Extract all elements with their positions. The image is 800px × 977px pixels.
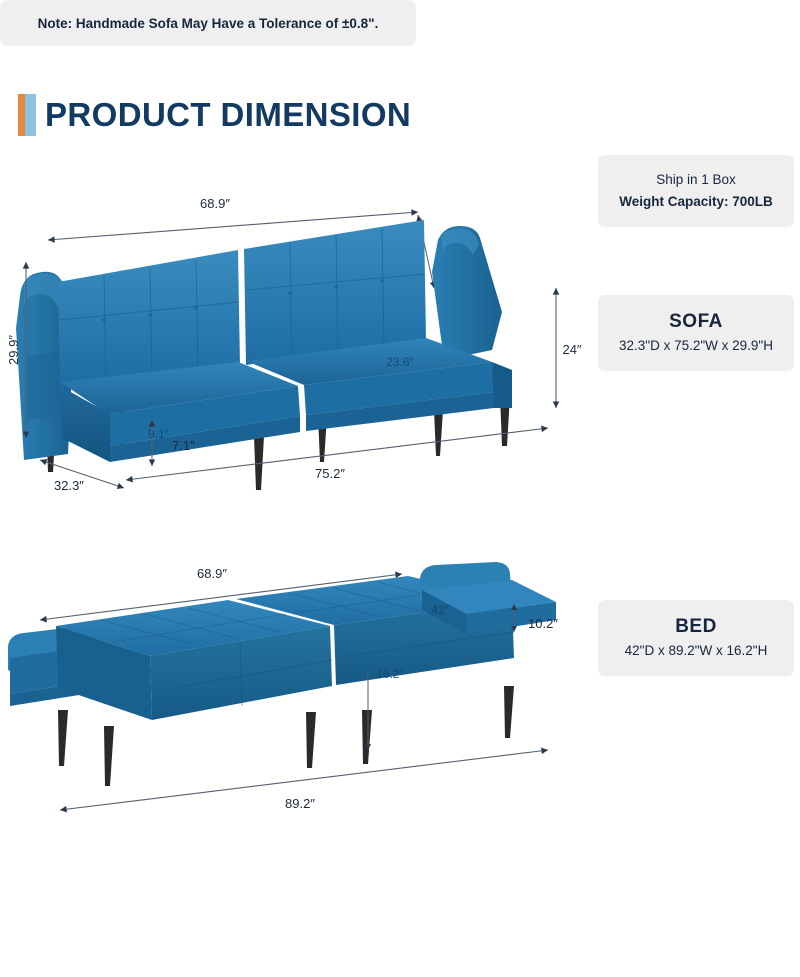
accent-bar-orange (18, 94, 25, 136)
ship-box-label: Ship in 1 Box (656, 169, 736, 191)
dim-label-sofa-seat-front: 9.1″ (148, 427, 170, 441)
dim-label-sofa-total-width: 75.2″ (315, 466, 345, 481)
dim-label-sofa-height: 29.9″ (6, 335, 21, 365)
ship-info-box: Ship in 1 Box Weight Capacity: 700LB (598, 155, 794, 227)
dim-label-bed-total-width: 89.2″ (285, 796, 315, 811)
sofa-diagram: 68.9″ 15.8″ (0, 170, 600, 520)
sofa-info-box: SOFA 32.3"D x 75.2"W x 29.9"H (598, 295, 794, 371)
sofa-box-dimensions: 32.3"D x 75.2"W x 29.9"H (619, 335, 773, 357)
page-title: PRODUCT DIMENSION (18, 92, 411, 138)
dim-label-sofa-arm-height: 24″ (562, 342, 581, 357)
page-title-text: PRODUCT DIMENSION (45, 94, 411, 136)
bed-box-heading: BED (675, 614, 717, 640)
dim-label-sofa-width-top: 68.9″ (200, 196, 230, 211)
bed-box-dimensions: 42"D x 89.2"W x 16.2"H (625, 640, 768, 662)
product-dimension-page: PRODUCT DIMENSION (0, 0, 800, 977)
dim-sofa-arm-height: 24″ (556, 288, 582, 408)
dim-label-bed-width-top: 68.9″ (197, 566, 227, 581)
tolerance-note-text: Note: Handmade Sofa May Have a Tolerance… (38, 16, 379, 31)
bed-diagram: 68.9″ (0, 560, 600, 860)
dim-bed-total-width: 89.2″ (60, 750, 548, 811)
bed-illustration: 42″ 16.2″ (8, 562, 556, 786)
dim-label-sofa-seat-depth: 23.6″ (386, 355, 414, 369)
dim-label-sofa-depth: 32.3″ (54, 478, 84, 493)
bed-info-box: BED 42"D x 89.2"W x 16.2"H (598, 600, 794, 676)
tolerance-note-box: Note: Handmade Sofa May Have a Tolerance… (0, 0, 416, 46)
dim-label-bed-height: 16.2″ (376, 667, 404, 681)
sofa-illustration: 9.1″ 23.6″ (16, 220, 512, 490)
dim-label-bed-depth: 42″ (431, 603, 449, 617)
weight-capacity-label: Weight Capacity: 700LB (619, 191, 773, 213)
dim-label-sofa-leg-height: 7.1″ (172, 438, 195, 453)
sofa-box-heading: SOFA (669, 309, 723, 335)
dim-label-bed-arm-height: 10.2″ (528, 616, 558, 631)
accent-bar-blue (25, 94, 36, 136)
